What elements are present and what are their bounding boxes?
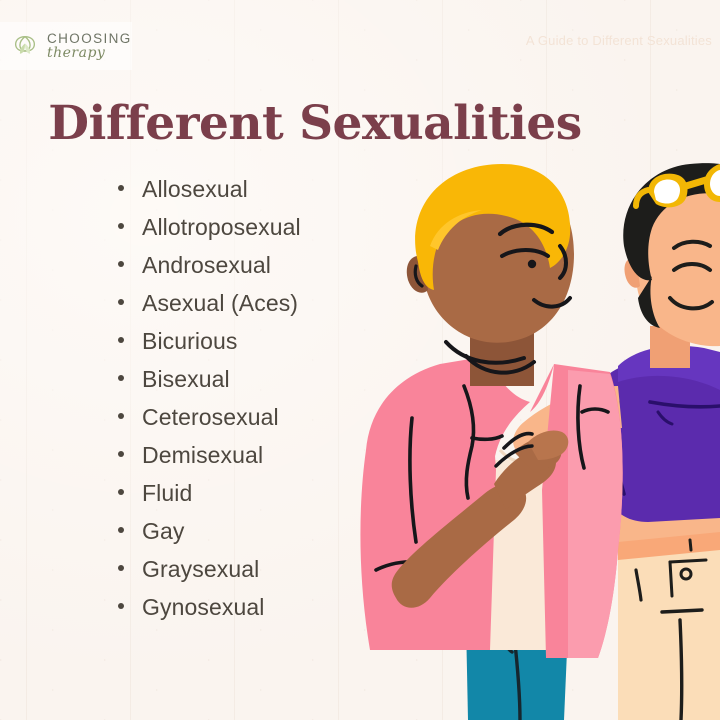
person-left-figure	[360, 164, 622, 720]
bullet-icon	[118, 565, 124, 571]
brand-name-primary: CHOOSING	[47, 32, 132, 46]
list-item-label: Androsexual	[142, 252, 271, 279]
two-people-couple-illustration	[318, 150, 720, 720]
list-item-label: Graysexual	[142, 556, 259, 583]
bullet-icon	[118, 223, 124, 229]
list-item-label: Gay	[142, 518, 184, 545]
page-title: Different Sexualities	[0, 96, 720, 151]
list-item: Ceterosexual	[118, 404, 301, 442]
list-item: Allotroposexual	[118, 214, 301, 252]
list-item: Gynosexual	[118, 594, 301, 632]
bullet-icon	[118, 185, 124, 191]
list-item: Androsexual	[118, 252, 301, 290]
list-item-label: Asexual (Aces)	[142, 290, 298, 317]
bullet-icon	[118, 489, 124, 495]
list-item: Gay	[118, 518, 301, 556]
bullet-icon	[118, 413, 124, 419]
list-item-label: Gynosexual	[142, 594, 264, 621]
list-item: Graysexual	[118, 556, 301, 594]
list-item: Allosexual	[118, 176, 301, 214]
list-item-label: Bisexual	[142, 366, 230, 393]
infographic-canvas: CHOOSING therapy A Guide to Different Se…	[0, 0, 720, 720]
brand-name-secondary: therapy	[47, 46, 132, 60]
list-item: Demisexual	[118, 442, 301, 480]
bullet-icon	[118, 451, 124, 457]
sexualities-list: Allosexual Allotroposexual Androsexual A…	[118, 176, 301, 632]
bullet-icon	[118, 299, 124, 305]
list-item-label: Demisexual	[142, 442, 263, 469]
bullet-icon	[118, 603, 124, 609]
leaf-plant-icon	[8, 29, 42, 63]
list-item-label: Bicurious	[142, 328, 238, 355]
guide-caption: A Guide to Different Sexualities	[526, 33, 712, 48]
bullet-icon	[118, 337, 124, 343]
list-item: Bisexual	[118, 366, 301, 404]
bullet-icon	[118, 527, 124, 533]
bullet-icon	[118, 375, 124, 381]
brand-logo[interactable]: CHOOSING therapy	[0, 22, 132, 70]
bullet-icon	[118, 261, 124, 267]
list-item-label: Ceterosexual	[142, 404, 279, 431]
list-item-label: Fluid	[142, 480, 192, 507]
list-item: Bicurious	[118, 328, 301, 366]
list-item-label: Allotroposexual	[142, 214, 301, 241]
list-item: Asexual (Aces)	[118, 290, 301, 328]
list-item: Fluid	[118, 480, 301, 518]
list-item-label: Allosexual	[142, 176, 248, 203]
